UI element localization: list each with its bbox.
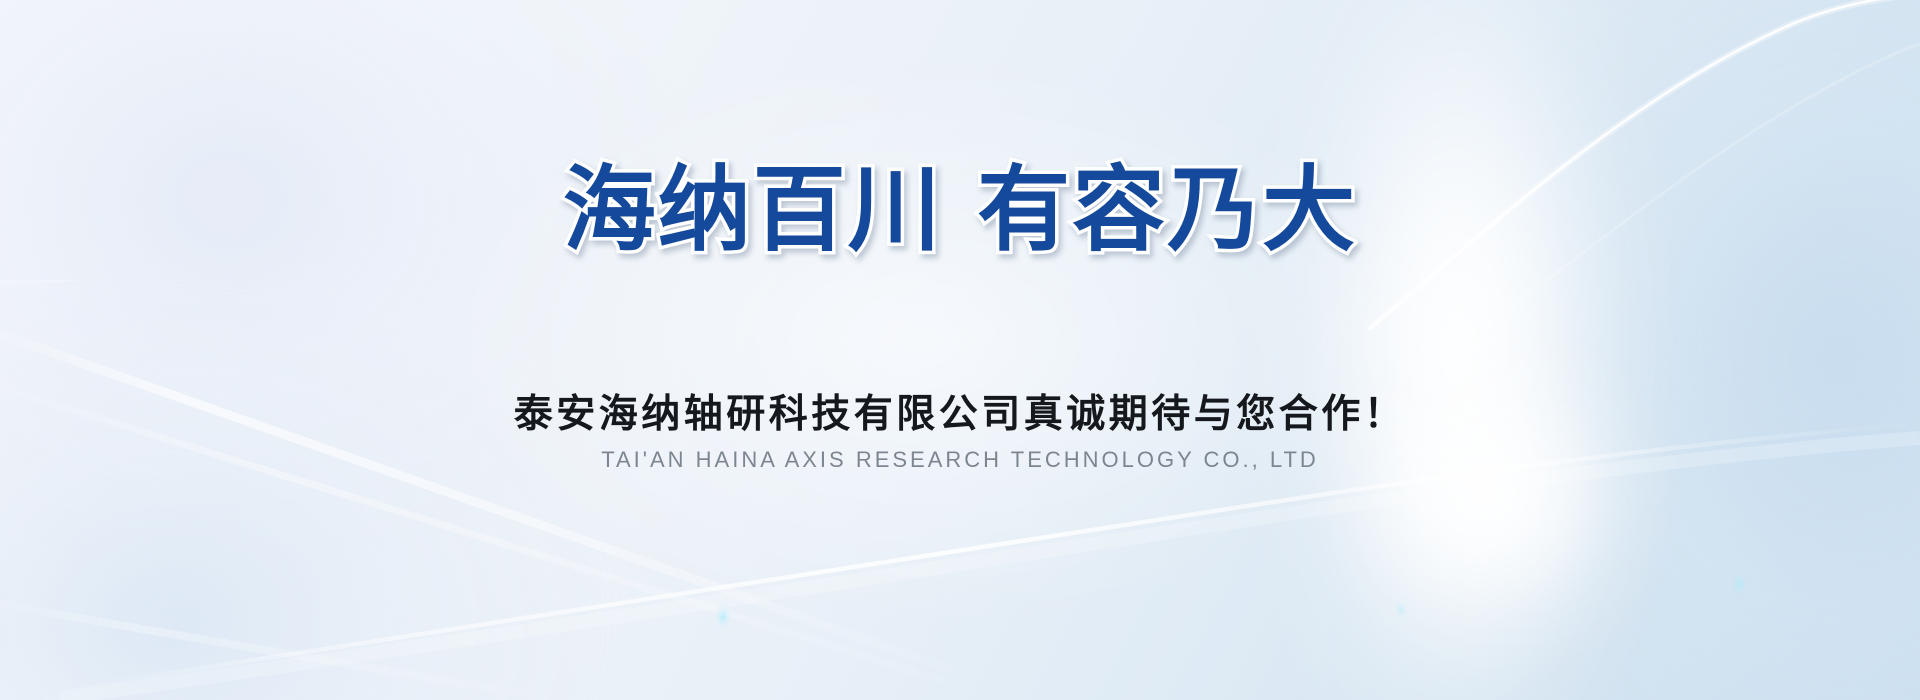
banner-tagline-chinese: 泰安海纳轴研科技有限公司真诚期待与您合作！ [0,383,1920,439]
banner-content: 海纳百川 有容乃大 泰安海纳轴研科技有限公司真诚期待与您合作！ TAI'AN H… [0,0,1920,700]
banner-headline: 海纳百川 有容乃大 [0,164,1920,257]
hero-banner: 海纳百川 有容乃大 泰安海纳轴研科技有限公司真诚期待与您合作！ TAI'AN H… [0,0,1920,700]
banner-tagline-english: TAI'AN HAINA AXIS RESEARCH TECHNOLOGY CO… [0,447,1920,473]
